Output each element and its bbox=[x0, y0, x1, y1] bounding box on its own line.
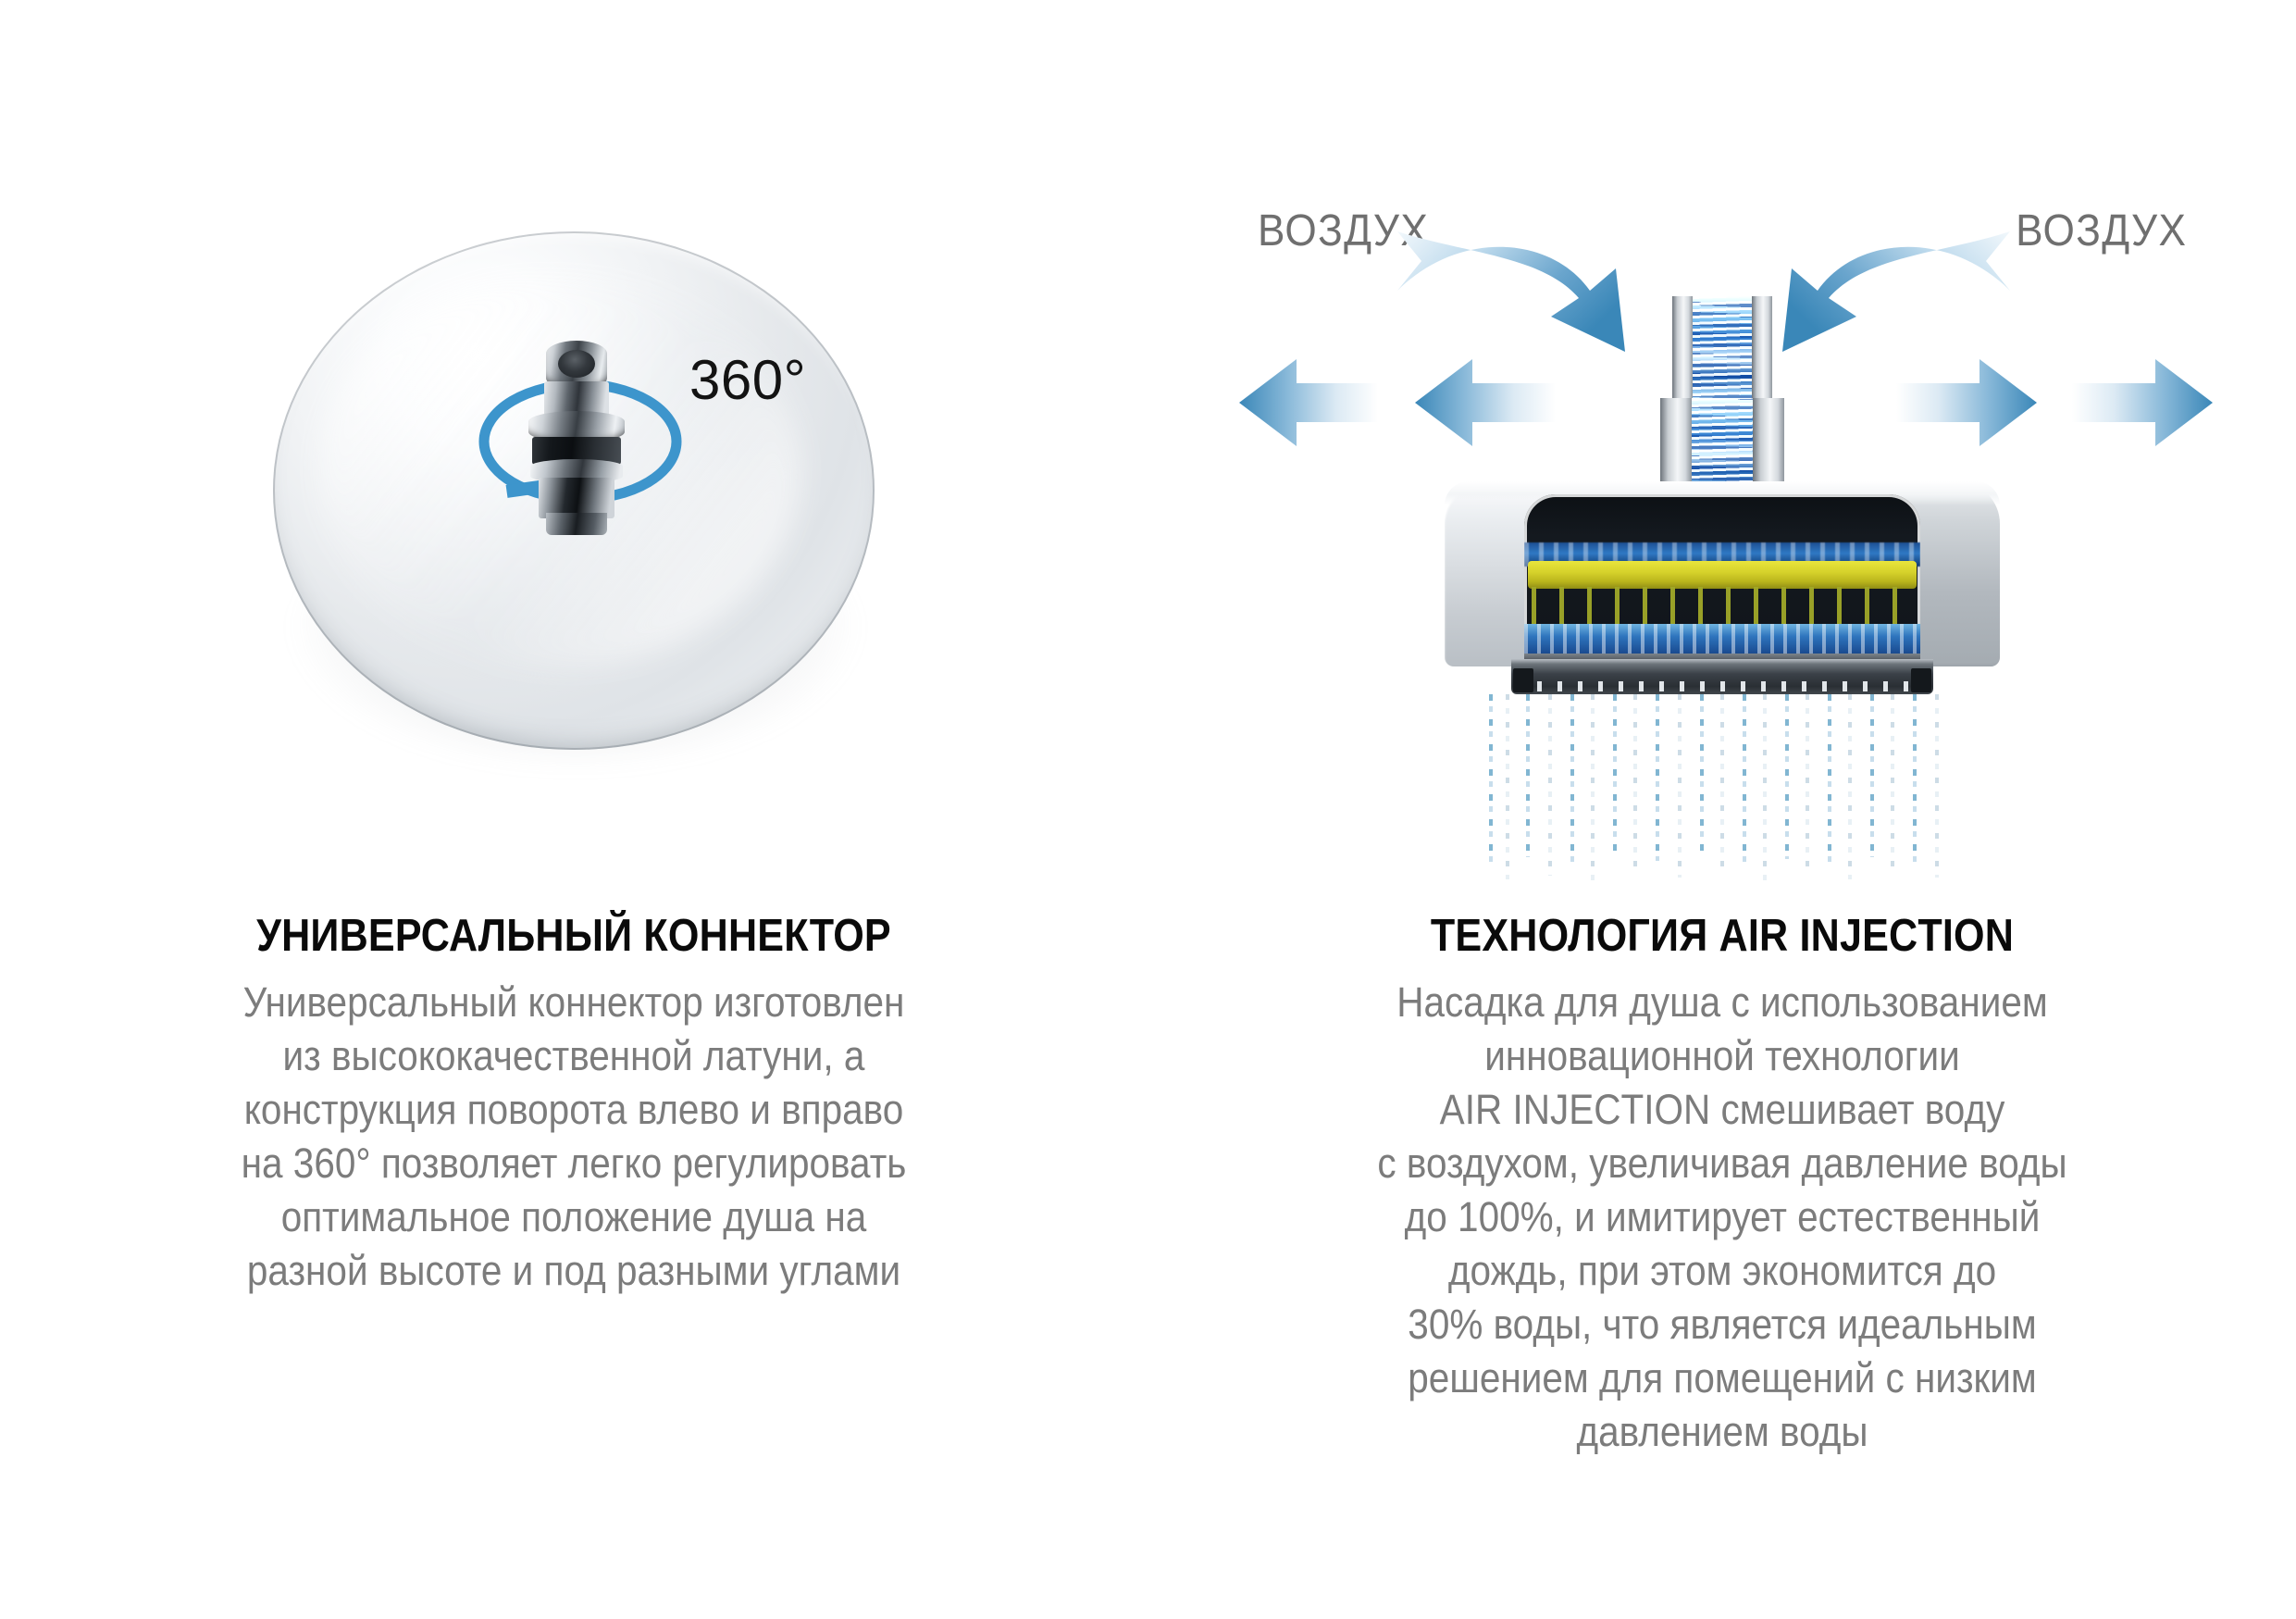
body-line: дождь, при этом экономится до bbox=[1206, 1244, 2239, 1298]
air-injection-text: ТЕХНОЛОГИЯ AIR INJECTION Насадка для душ… bbox=[1148, 912, 2296, 1459]
water-stream bbox=[1828, 694, 1831, 863]
water-stream bbox=[1785, 694, 1789, 859]
water-stream bbox=[1570, 694, 1574, 863]
body-line: разной высоте и под разными углами bbox=[57, 1244, 1090, 1298]
body-line: конструкция поворота влево и вправо bbox=[57, 1083, 1090, 1137]
body-line: инновационной технологии bbox=[1206, 1029, 2239, 1083]
shower-neck-upper bbox=[1672, 296, 1772, 407]
nozzle-plate-cap-right bbox=[1911, 668, 1931, 692]
panel-heading-air-injection: ТЕХНОЛОГИЯ AIR INJECTION bbox=[1217, 912, 2227, 961]
water-stream bbox=[1678, 694, 1682, 878]
panel-body-air-injection: Насадка для душа с использованием иннова… bbox=[1206, 976, 2239, 1459]
shower-head-cutaway bbox=[1445, 481, 2000, 696]
panel-heading-universal-connector: УНИВЕРСАЛЬНЫЙ КОННЕКТОР bbox=[68, 912, 1078, 961]
body-line: на 360° позволяет легко регулировать bbox=[57, 1137, 1090, 1190]
air-arrow-horizontal-left-icons bbox=[1239, 352, 1572, 454]
neck-chrome-right bbox=[1752, 296, 1772, 407]
shower-head-disc: 360° bbox=[254, 222, 893, 778]
nozzle-plate-cap-left bbox=[1513, 668, 1533, 692]
body-line: Универсальный коннектор изготовлен bbox=[57, 976, 1090, 1029]
water-stream bbox=[1870, 694, 1874, 857]
neck-chrome-left bbox=[1672, 296, 1693, 407]
water-stream bbox=[1633, 694, 1637, 872]
water-stream bbox=[1548, 694, 1552, 876]
body-line: оптимальное положение душа на bbox=[57, 1190, 1090, 1244]
air-injection-figure: ВОЗДУХ ВОЗДУХ bbox=[1148, 120, 2296, 898]
panel-air-injection: ВОЗДУХ ВОЗДУХ bbox=[1148, 0, 2296, 1619]
water-stream bbox=[1806, 694, 1809, 874]
body-line: давлением воды bbox=[1206, 1405, 2239, 1459]
water-stream bbox=[1763, 694, 1767, 881]
water-stream bbox=[1743, 694, 1746, 865]
water-stream bbox=[1656, 694, 1659, 861]
body-line: решением для помещений с низким bbox=[1206, 1351, 2239, 1405]
diffuser-plate bbox=[1528, 561, 1917, 589]
diffuser-ribs bbox=[1532, 587, 1913, 628]
water-stream bbox=[1913, 694, 1917, 866]
water-spray bbox=[1482, 694, 1963, 889]
universal-connector-text: УНИВЕРСАЛЬНЫЙ КОННЕКТОР Универсальный ко… bbox=[0, 912, 1148, 1298]
body-line: из высококачественной латуни, а bbox=[57, 1029, 1090, 1083]
body-line: с воздухом, увеличивая давление воды bbox=[1206, 1137, 2239, 1190]
water-stream bbox=[1591, 694, 1595, 883]
water-stream bbox=[1720, 694, 1724, 870]
body-line: AIR INJECTION смешивает воду bbox=[1206, 1083, 2239, 1137]
water-stream bbox=[1613, 694, 1617, 853]
rotation-angle-label: 360° bbox=[689, 348, 806, 412]
connector-foot bbox=[546, 513, 607, 535]
connector-bore bbox=[558, 350, 595, 378]
water-stream bbox=[1935, 694, 1939, 878]
interior-water-lower bbox=[1524, 624, 1920, 655]
water-stream bbox=[1700, 694, 1704, 855]
nozzle-plate bbox=[1511, 659, 1933, 694]
body-line: Насадка для душа с использованием bbox=[1206, 976, 2239, 1029]
neck-water-flow bbox=[1693, 296, 1752, 407]
water-stream bbox=[1891, 694, 1894, 872]
water-stream bbox=[1848, 694, 1852, 879]
panel-universal-connector: 360° УНИВЕРСАЛЬНЫЙ КОННЕКТОР Универсальн… bbox=[0, 0, 1148, 1619]
water-stream bbox=[1526, 694, 1530, 857]
air-arrow-horizontal-right-icons bbox=[1880, 352, 2213, 454]
panel-body-universal-connector: Универсальный коннектор изготовлен из вы… bbox=[57, 976, 1090, 1298]
water-stream bbox=[1506, 694, 1509, 879]
cutaway-interior bbox=[1524, 494, 1920, 666]
brass-connector bbox=[525, 341, 628, 535]
body-line: 30% воды, что является идеальным bbox=[1206, 1298, 2239, 1351]
universal-connector-figure: 360° bbox=[0, 167, 1148, 898]
water-stream bbox=[1489, 694, 1493, 866]
air-label-right: ВОЗДУХ bbox=[2016, 205, 2187, 256]
body-line: до 100%, и имитирует естественный bbox=[1206, 1190, 2239, 1244]
infographic-page: 360° УНИВЕРСАЛЬНЫЙ КОННЕКТОР Универсальн… bbox=[0, 0, 2296, 1619]
